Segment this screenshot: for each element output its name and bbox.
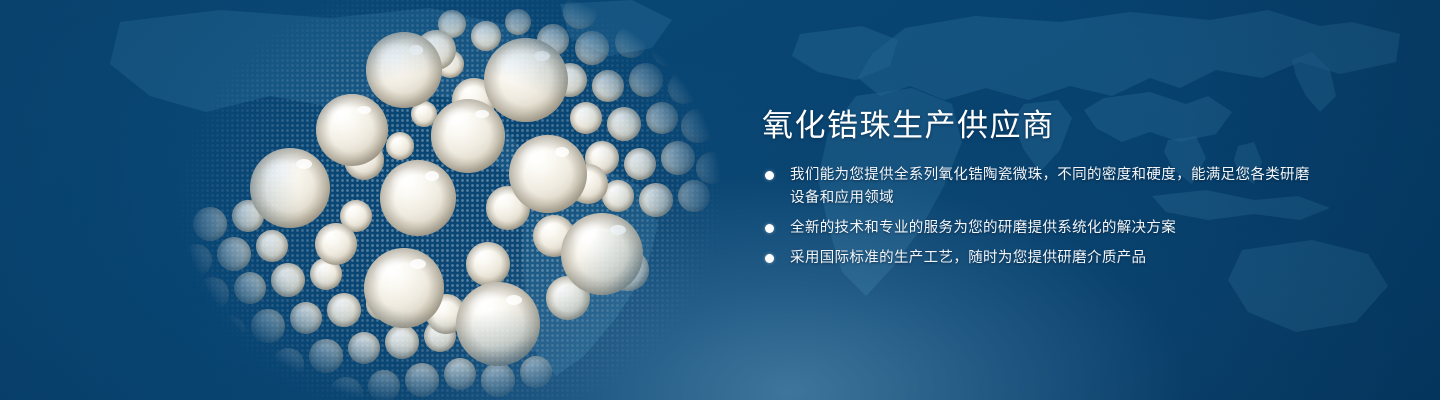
hero-banner: 氧化锆珠生产供应商 我们能为您提供全系列氧化锆陶瓷微珠，不同的密度和硬度，能满足… [0, 0, 1440, 400]
list-item-label: 我们能为您提供全系列氧化锆陶瓷微珠，不同的密度和硬度，能满足您各类研磨设备和应用… [790, 164, 1322, 210]
zirconia-beads-photo [150, 0, 730, 400]
bullet-dot-icon [765, 224, 774, 233]
list-item: 我们能为您提供全系列氧化锆陶瓷微珠，不同的密度和硬度，能满足您各类研磨设备和应用… [762, 164, 1322, 210]
list-item: 全新的技术和专业的服务为您的研磨提供系统化的解决方案 [762, 217, 1322, 240]
banner-copy: 氧化锆珠生产供应商 我们能为您提供全系列氧化锆陶瓷微珠，不同的密度和硬度，能满足… [762, 106, 1322, 270]
bead-cluster [150, 0, 730, 400]
page-title: 氧化锆珠生产供应商 [762, 106, 1322, 146]
bullet-dot-icon [765, 254, 774, 263]
bullet-dot-icon [765, 171, 774, 180]
list-item-label: 全新的技术和专业的服务为您的研磨提供系统化的解决方案 [790, 217, 1322, 240]
feature-list: 我们能为您提供全系列氧化锆陶瓷微珠，不同的密度和硬度，能满足您各类研磨设备和应用… [762, 164, 1322, 270]
list-item-label: 采用国际标准的生产工艺，随时为您提供研磨介质产品 [790, 247, 1322, 270]
list-item: 采用国际标准的生产工艺，随时为您提供研磨介质产品 [762, 247, 1322, 270]
